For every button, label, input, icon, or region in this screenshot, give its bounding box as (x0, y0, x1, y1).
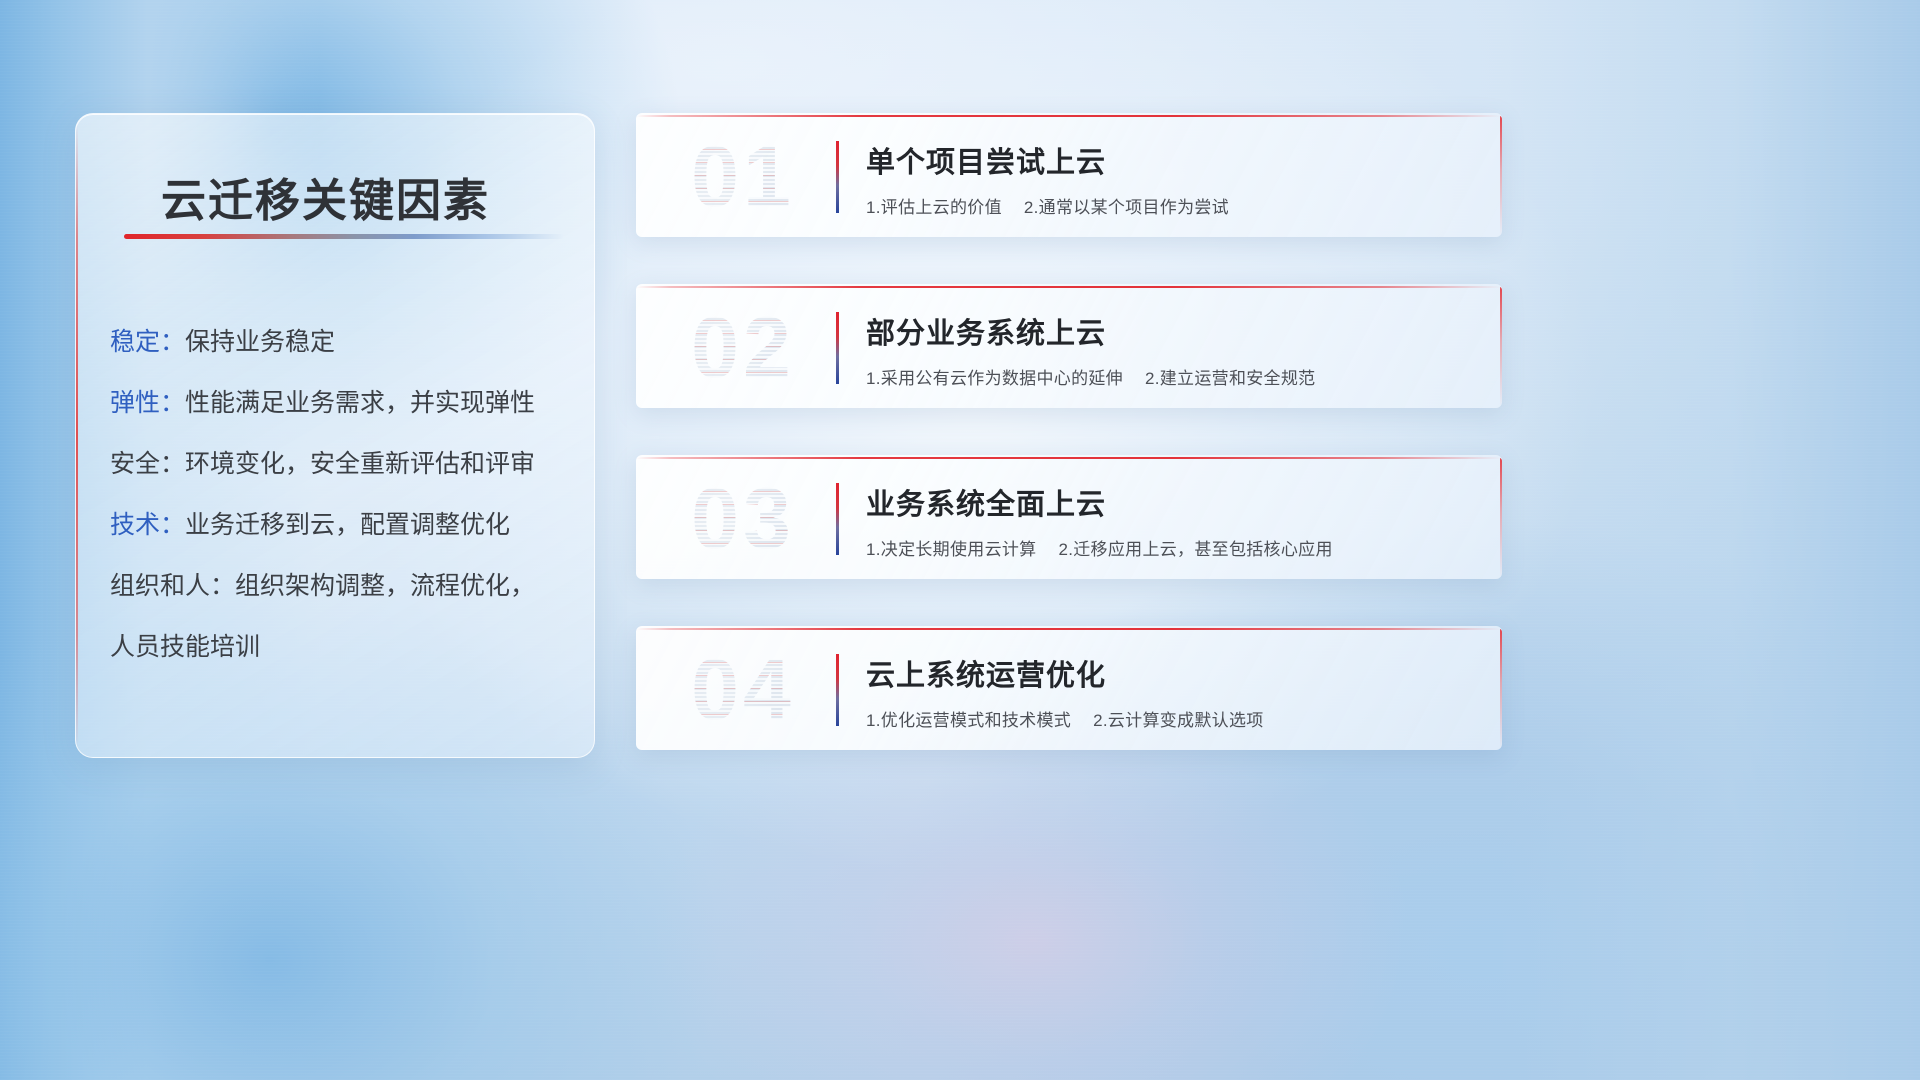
step-number-04-accent: 04 (658, 634, 828, 746)
step-description-part-1: 1.优化运营模式和技术模式 (866, 711, 1071, 730)
step-description-part-1: 1.决定长期使用云计算 (866, 540, 1036, 559)
step-card-01[interactable]: 01 01 单个项目尝试上云 1.评估上云的价值2.通常以某个项目作为尝试 (636, 113, 1502, 237)
list-item: 弹性：性能满足业务需求，并实现弹性 (110, 373, 570, 434)
step-card-03[interactable]: 03 03 业务系统全面上云 1.决定长期使用云计算2.迁移应用上云，甚至包括核… (636, 455, 1502, 579)
step-number-02-accent: 02 (658, 292, 828, 404)
list-item: 人员技能培训 (110, 617, 570, 678)
key-factors-card: 云迁移关键因素 稳定：保持业务稳定 弹性：性能满足业务需求，并实现弹性 安全：环… (75, 113, 595, 758)
title-underline-gradient (124, 234, 564, 239)
list-item-label: 技术： (110, 511, 185, 539)
step-description-part-2: 2.迁移应用上云，甚至包括核心应用 (1058, 540, 1332, 559)
step-description: 1.评估上云的价值2.通常以某个项目作为尝试 (866, 193, 1229, 218)
step-title: 部分业务系统上云 (866, 310, 1106, 352)
step-number-03-accent: 03 (658, 463, 828, 575)
step-card-04[interactable]: 04 04 云上系统运营优化 1.优化运营模式和技术模式2.云计算变成默认选项 (636, 626, 1502, 750)
list-item-label: 安全： (110, 450, 185, 478)
step-accent-bar (836, 483, 839, 555)
list-item-text: 组织架构调整，流程优化， (235, 572, 535, 600)
step-description: 1.采用公有云作为数据中心的延伸2.建立运营和安全规范 (866, 364, 1315, 389)
step-description-part-2: 2.建立运营和安全规范 (1145, 369, 1315, 388)
step-number-01-accent: 01 (658, 121, 828, 233)
list-item: 稳定：保持业务稳定 (110, 312, 570, 373)
list-item-text: 业务迁移到云，配置调整优化 (185, 511, 510, 539)
list-item-label: 组织和人： (110, 572, 235, 600)
list-item-text: 环境变化，安全重新评估和评审 (185, 450, 535, 478)
step-title: 单个项目尝试上云 (866, 139, 1106, 181)
list-item-label: 弹性： (110, 389, 185, 417)
list-item: 安全：环境变化，安全重新评估和评审 (110, 434, 570, 495)
step-card-02[interactable]: 02 02 部分业务系统上云 1.采用公有云作为数据中心的延伸2.建立运营和安全… (636, 284, 1502, 408)
step-title: 云上系统运营优化 (866, 652, 1106, 694)
key-factors-list: 稳定：保持业务稳定 弹性：性能满足业务需求，并实现弹性 安全：环境变化，安全重新… (110, 312, 570, 678)
step-description-part-2: 2.云计算变成默认选项 (1093, 711, 1263, 730)
list-item-text: 人员技能培训 (110, 633, 260, 661)
list-item-label: 稳定： (110, 328, 185, 356)
step-accent-bar (836, 312, 839, 384)
step-description: 1.优化运营模式和技术模式2.云计算变成默认选项 (866, 706, 1264, 731)
list-item-text: 性能满足业务需求，并实现弹性 (185, 389, 535, 417)
list-item: 组织和人：组织架构调整，流程优化， (110, 556, 570, 617)
step-title: 业务系统全面上云 (866, 481, 1106, 523)
list-item-text: 保持业务稳定 (185, 328, 335, 356)
page-title: 云迁移关键因素 (161, 164, 490, 229)
step-description: 1.决定长期使用云计算2.迁移应用上云，甚至包括核心应用 (866, 535, 1333, 560)
list-item: 技术：业务迁移到云，配置调整优化 (110, 495, 570, 556)
step-description-part-1: 1.采用公有云作为数据中心的延伸 (866, 369, 1123, 388)
step-accent-bar (836, 654, 839, 726)
step-description-part-2: 2.通常以某个项目作为尝试 (1024, 198, 1229, 217)
step-description-part-1: 1.评估上云的价值 (866, 198, 1002, 217)
step-accent-bar (836, 141, 839, 213)
card-left-accent-bar (76, 124, 78, 747)
